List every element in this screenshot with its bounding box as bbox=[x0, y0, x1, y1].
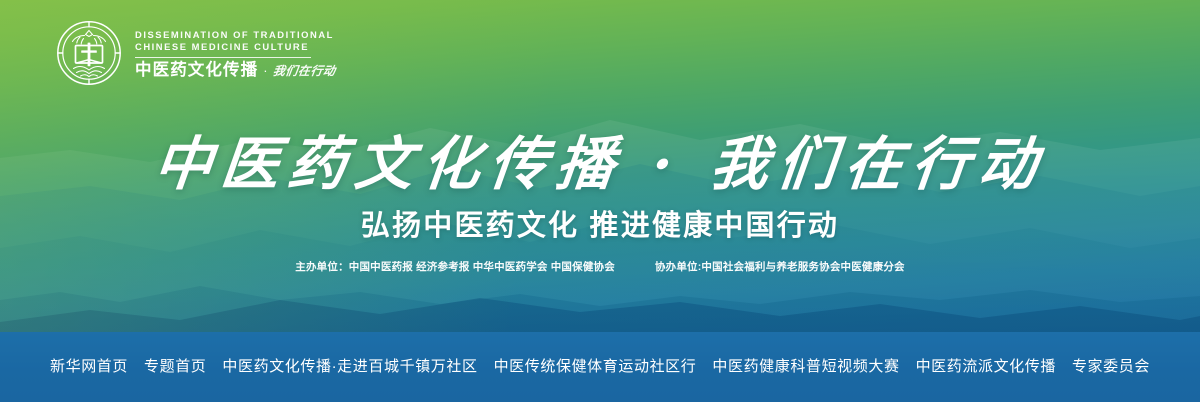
brand-divider-rule bbox=[135, 57, 311, 58]
site-banner: DISSEMINATION OF TRADITIONAL CHINESE MED… bbox=[0, 0, 1200, 402]
brand-logo[interactable]: DISSEMINATION OF TRADITIONAL CHINESE MED… bbox=[56, 20, 335, 86]
page-title: 中医药文化传播 · 我们在行动 bbox=[0, 128, 1200, 200]
hero-title-block: 中医药文化传播 · 我们在行动 弘扬中医药文化 推进健康中国行动 主办单位：中国… bbox=[0, 128, 1200, 275]
page-subtitle: 弘扬中医药文化 推进健康中国行动 bbox=[0, 207, 1200, 245]
brand-english-line-1: DISSEMINATION OF TRADITIONAL bbox=[135, 29, 335, 41]
brand-chinese-slogan: 我们在行动 bbox=[271, 63, 336, 79]
nav-item-expert-committee[interactable]: 专家委员会 bbox=[1072, 356, 1150, 378]
nav-item-xinhua-home[interactable]: 新华网首页 bbox=[50, 356, 128, 378]
nav-item-culture-communities[interactable]: 中医药文化传播·走进百城千镇万社区 bbox=[222, 356, 477, 378]
main-navigation-bar: 新华网首页 专题首页 中医药文化传播·走进百城千镇万社区 中医传统保健体育运动社… bbox=[0, 332, 1200, 402]
tcm-circular-emblem-icon bbox=[56, 20, 122, 86]
nav-item-school-culture[interactable]: 中医药流派文化传播 bbox=[916, 356, 1056, 378]
organizer-line: 主办单位：中国中医药报 经济参考报 中华中医药学会 中国保健协会 协办单位:中国… bbox=[0, 260, 1200, 275]
nav-item-sports-community-tour[interactable]: 中医传统保健体育运动社区行 bbox=[494, 356, 697, 378]
nav-item-short-video-contest[interactable]: 中医药健康科普短视频大赛 bbox=[712, 356, 899, 378]
main-navigation-list: 新华网首页 专题首页 中医药文化传播·走进百城千镇万社区 中医传统保健体育运动社… bbox=[50, 356, 1150, 378]
host-organizations: 主办单位：中国中医药报 经济参考报 中华中医药学会 中国保健协会 bbox=[295, 260, 615, 275]
brand-chinese-name: 中医药文化传播 bbox=[135, 61, 258, 79]
co-host-organizations: 协办单位:中国社会福利与养老服务协会中医健康分会 bbox=[655, 260, 905, 275]
nav-item-topic-home[interactable]: 专题首页 bbox=[144, 356, 206, 378]
brand-english-line-2: CHINESE MEDICINE CULTURE bbox=[135, 41, 335, 53]
brand-logo-text: DISSEMINATION OF TRADITIONAL CHINESE MED… bbox=[135, 27, 335, 80]
brand-separator-dot: · bbox=[263, 62, 267, 79]
